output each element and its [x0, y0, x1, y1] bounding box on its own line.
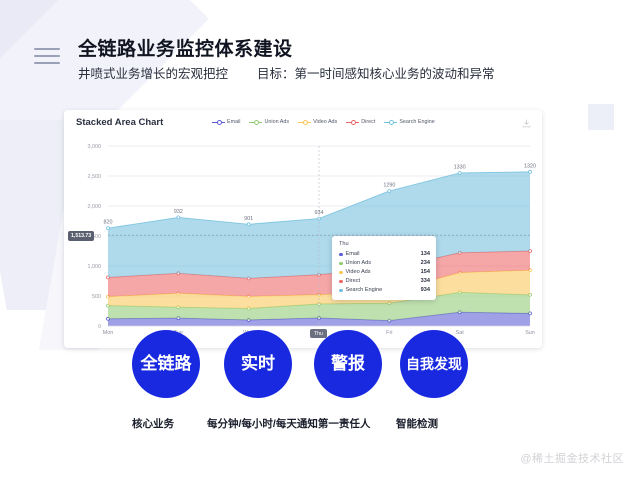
hamburger-bar — [34, 48, 60, 50]
tooltip-series-name: Union Ads — [346, 259, 421, 268]
legend-item-direct[interactable]: Direct — [346, 119, 375, 125]
page-subtitle: 井喷式业务增长的宏观把控 目标：第一时间感知核心业务的波动和异常 — [78, 66, 614, 83]
legend-item-video-ads[interactable]: Video Ads — [298, 119, 337, 125]
legend-label: Search Engine — [399, 119, 434, 125]
download-icon[interactable] — [522, 119, 531, 128]
tooltip-row: Video Ads154 — [339, 268, 430, 277]
legend-marker-icon — [384, 119, 397, 125]
feature-circle-1[interactable]: 实时 — [224, 330, 292, 398]
tooltip-series-name: Video Ads — [346, 268, 421, 277]
data-label: 934 — [315, 210, 324, 216]
data-point[interactable] — [107, 227, 110, 230]
legend-label: Video Ads — [313, 119, 337, 125]
feature-circle-label: 自我发现 — [400, 330, 468, 398]
y-axis-tick-label: 2,500 — [88, 174, 102, 180]
y-axis-tick-label: 3,000 — [88, 144, 102, 150]
tooltip-series-value: 934 — [421, 286, 430, 295]
data-point[interactable] — [247, 223, 250, 226]
data-label: 1290 — [383, 183, 395, 189]
feature-circle-label: 全链路 — [132, 330, 200, 398]
tooltip-row: Email134 — [339, 250, 430, 259]
feature-circle-2[interactable]: 警报 — [314, 330, 382, 398]
tooltip-series-value: 154 — [421, 268, 430, 277]
legend-label: Union Ads — [264, 119, 289, 125]
x-axis-highlighted-tick: Thu — [310, 329, 327, 338]
legend-label: Direct — [361, 119, 375, 125]
legend-marker-icon — [249, 119, 262, 125]
tooltip-series-dot — [339, 262, 343, 266]
data-label: 932 — [174, 209, 183, 215]
data-label: 1330 — [454, 165, 466, 171]
tooltip-series-dot — [339, 253, 343, 257]
page-title: 全链路业务监控体系建设 — [78, 38, 614, 62]
data-label: 1320 — [524, 163, 536, 169]
axis-value-badge: 1,513.73 — [68, 231, 94, 241]
legend-item-email[interactable]: Email — [212, 119, 240, 125]
tooltip-series-name: Search Engine — [346, 286, 421, 295]
data-point[interactable] — [177, 216, 180, 219]
tooltip-series-value: 134 — [421, 250, 430, 259]
legend-marker-icon — [346, 119, 359, 125]
tooltip-series-value: 334 — [421, 277, 430, 286]
y-axis-tick-label: 2,000 — [88, 204, 102, 210]
y-axis-tick-label: 1,000 — [88, 264, 102, 270]
y-axis-tick-label: 500 — [92, 294, 101, 300]
data-label: 901 — [244, 216, 253, 222]
tooltip-row: Direct334 — [339, 277, 430, 286]
legend-label: Email — [227, 119, 240, 125]
tooltip-series-dot — [339, 280, 343, 284]
data-label: 820 — [104, 220, 113, 226]
stacked-area-chart: 05001,0001,5002,0002,5003,00082093290193… — [64, 136, 542, 348]
subtitle-right: 目标：第一时间感知核心业务的波动和异常 — [257, 67, 495, 81]
chart-legend[interactable]: EmailUnion AdsVideo AdsDirectSearch Engi… — [212, 119, 435, 125]
tooltip-series-dot — [339, 271, 343, 275]
feature-circles-row: 全链路 实时 警报 自我发现 核心业务 每分钟/每小时/每天通知第一责任人 智能… — [0, 330, 640, 430]
title-block: 全链路业务监控体系建设 井喷式业务增长的宏观把控 目标：第一时间感知核心业务的波… — [78, 38, 614, 83]
deco-shape-right-small — [588, 104, 614, 130]
tooltip-series-name: Direct — [346, 277, 421, 286]
chart-card-header: Stacked Area Chart EmailUnion AdsVideo A… — [64, 110, 542, 136]
page-header: 全链路业务监控体系建设 井喷式业务增长的宏观把控 目标：第一时间感知核心业务的波… — [34, 38, 614, 83]
legend-marker-icon — [212, 119, 225, 125]
feature-circle-0[interactable]: 全链路 — [132, 330, 200, 398]
watermark: @稀土掘金技术社区 — [520, 450, 624, 466]
hamburger-icon[interactable] — [34, 48, 60, 64]
legend-item-union-ads[interactable]: Union Ads — [249, 119, 289, 125]
tooltip-series-name: Email — [346, 250, 421, 259]
chart-card: Stacked Area Chart EmailUnion AdsVideo A… — [64, 110, 542, 348]
feature-circle-3[interactable]: 自我发现 — [400, 330, 468, 398]
tooltip-row: Union Ads234 — [339, 259, 430, 268]
tooltip-title: Thu — [339, 241, 430, 247]
tooltip-series-dot — [339, 289, 343, 293]
deco-shape-top — [106, 0, 176, 40]
chart-title: Stacked Area Chart — [76, 117, 163, 128]
hamburger-bar — [34, 55, 60, 57]
feature-circle-label: 实时 — [224, 330, 292, 398]
tooltip-rows: Email134Union Ads234Video Ads154Direct33… — [339, 250, 430, 295]
chart-plot-area: 05001,0001,5002,0002,5003,00082093290193… — [64, 136, 542, 348]
tooltip-row: Search Engine934 — [339, 286, 430, 295]
feature-caption-0: 核心业务 — [132, 416, 200, 431]
subtitle-left: 井喷式业务增长的宏观把控 — [78, 67, 228, 81]
data-point[interactable] — [529, 170, 532, 173]
data-point[interactable] — [458, 172, 461, 175]
feature-caption-3: 智能检测 — [396, 416, 476, 431]
feature-circle-label: 警报 — [314, 330, 382, 398]
legend-marker-icon — [298, 119, 311, 125]
tooltip-series-value: 234 — [421, 259, 430, 268]
data-point[interactable] — [388, 190, 391, 193]
chart-tooltip: Thu Email134Union Ads234Video Ads154Dire… — [332, 236, 436, 300]
legend-item-search-engine[interactable]: Search Engine — [384, 119, 434, 125]
hamburger-bar — [34, 62, 60, 64]
